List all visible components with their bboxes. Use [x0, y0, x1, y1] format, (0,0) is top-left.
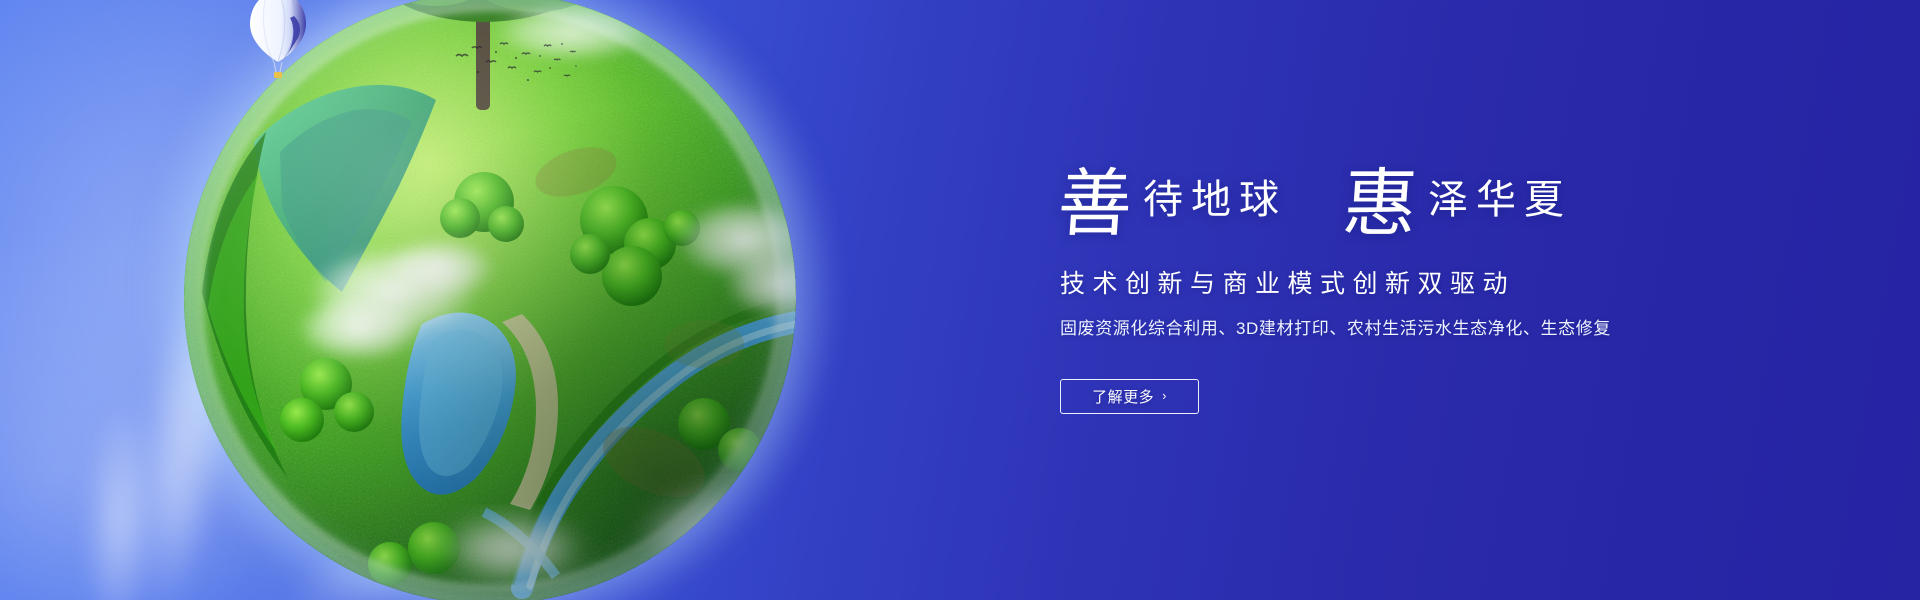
globe-illustration — [138, 0, 838, 600]
learn-more-label: 了解更多 — [1092, 386, 1154, 407]
globe-terrain — [184, 0, 796, 600]
chevron-right-icon: › — [1162, 388, 1167, 403]
page-title: 善待地球惠泽华夏 — [1058, 167, 1572, 241]
cloud-streaks — [0, 0, 900, 600]
hero-content: 善待地球惠泽华夏 技术创新与商业模式创新双驱动 固废资源化综合利用、3D建材打印… — [1058, 0, 1878, 600]
hot-air-balloon-icon — [246, 0, 310, 84]
globe-atmosphere-glow — [78, 0, 898, 600]
green-earth-globe — [184, 0, 796, 600]
headline-part2-rest: 泽华夏 — [1428, 180, 1572, 220]
service-description: 固废资源化综合利用、3D建材打印、农村生活污水生态净化、生态修复 — [1060, 314, 1611, 339]
flock-of-birds-icon — [452, 38, 582, 86]
headline-part2-calligraphy: 惠 — [1340, 167, 1420, 241]
headline-part1-calligraphy: 善 — [1055, 167, 1135, 241]
tagline: 技术创新与商业模式创新双驱动 — [1060, 264, 1515, 300]
hero-banner: 善待地球惠泽华夏 技术创新与商业模式创新双驱动 固废资源化综合利用、3D建材打印… — [0, 0, 1920, 600]
headline-part1-rest: 待地球 — [1143, 180, 1287, 220]
globe-rim-light — [184, 0, 796, 600]
learn-more-button[interactable]: 了解更多 › — [1060, 379, 1199, 414]
globe-shading — [184, 0, 796, 600]
